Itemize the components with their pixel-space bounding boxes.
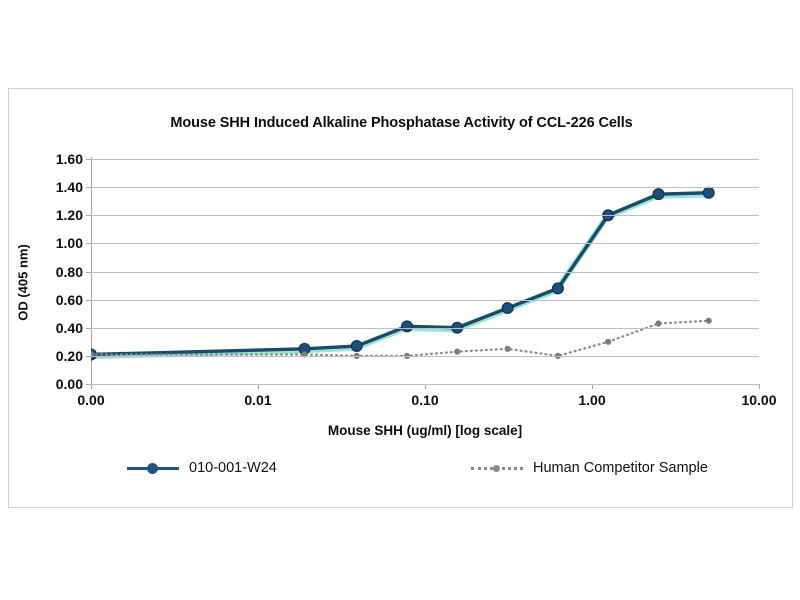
y-axis-tick-label: 0.60 xyxy=(23,292,83,308)
legend-label: Human Competitor Sample xyxy=(533,460,708,476)
gridline xyxy=(91,328,759,329)
data-point-marker xyxy=(402,321,413,332)
y-axis-tick-mark xyxy=(86,187,91,188)
y-axis-tick-labels: 1.601.401.201.000.800.600.400.200.00 xyxy=(19,159,83,384)
plot-area xyxy=(91,159,759,384)
y-axis-tick-mark xyxy=(86,328,91,329)
y-axis-tick-label: 1.40 xyxy=(23,179,83,195)
data-point-marker xyxy=(703,187,714,198)
legend-label: 010-001-W24 xyxy=(189,460,277,476)
x-axis-tick-label: 0.01 xyxy=(213,392,303,408)
gridline xyxy=(91,215,759,216)
y-axis-tick-label: 1.20 xyxy=(23,207,83,223)
x-axis-tick-label: 0.10 xyxy=(380,392,470,408)
x-axis-tick-mark xyxy=(759,384,760,389)
gridline xyxy=(91,272,759,273)
y-axis-tick-label: 0.80 xyxy=(23,264,83,280)
data-point-marker xyxy=(454,349,460,355)
data-point-marker xyxy=(605,339,611,345)
series-solid xyxy=(91,187,714,360)
y-axis-tick-mark xyxy=(86,243,91,244)
gridline xyxy=(91,187,759,188)
gridline xyxy=(91,356,759,357)
legend-entry-human-competitor-sample[interactable]: Human Competitor Sample xyxy=(471,457,708,479)
legend-entry-010-001-w24[interactable]: 010-001-W24 xyxy=(127,457,277,479)
chart-legend: 010-001-W24 Human Competitor Sample xyxy=(9,457,794,487)
x-axis-title: Mouse SHH (ug/ml) [log scale] xyxy=(91,423,759,438)
y-axis-tick-label: 0.20 xyxy=(23,348,83,364)
x-axis-tick-label: 10.00 xyxy=(714,392,800,408)
y-axis-tick-mark xyxy=(86,356,91,357)
y-axis-tick-mark xyxy=(86,384,91,385)
data-point-marker xyxy=(505,346,511,352)
x-axis-tick-label: 0.00 xyxy=(46,392,136,408)
gridline xyxy=(91,300,759,301)
data-point-marker xyxy=(706,318,712,324)
y-axis-tick-mark xyxy=(86,159,91,160)
data-point-marker xyxy=(502,303,513,314)
gridline xyxy=(91,384,759,385)
data-point-marker xyxy=(655,320,661,326)
y-axis-tick-mark xyxy=(86,272,91,273)
y-axis-tick-mark xyxy=(86,300,91,301)
gridline xyxy=(91,243,759,244)
gridline xyxy=(91,159,759,160)
chart-title: Mouse SHH Induced Alkaline Phosphatase A… xyxy=(9,115,794,131)
data-point-marker xyxy=(351,341,362,352)
chart-figure-frame: Mouse SHH Induced Alkaline Phosphatase A… xyxy=(8,88,793,508)
series-glow xyxy=(91,194,708,356)
data-point-marker xyxy=(553,283,564,294)
data-point-marker xyxy=(653,189,664,200)
y-axis-tick-label: 1.00 xyxy=(23,235,83,251)
legend-swatch-solid-line-icon xyxy=(127,461,179,475)
x-axis-tick-label: 1.00 xyxy=(547,392,637,408)
legend-swatch-dotted-line-icon xyxy=(471,461,523,475)
y-axis-tick-mark xyxy=(86,215,91,216)
y-axis-tick-label: 0.00 xyxy=(23,376,83,392)
series-line xyxy=(91,193,709,355)
y-axis-tick-label: 1.60 xyxy=(23,151,83,167)
y-axis-tick-label: 0.40 xyxy=(23,320,83,336)
